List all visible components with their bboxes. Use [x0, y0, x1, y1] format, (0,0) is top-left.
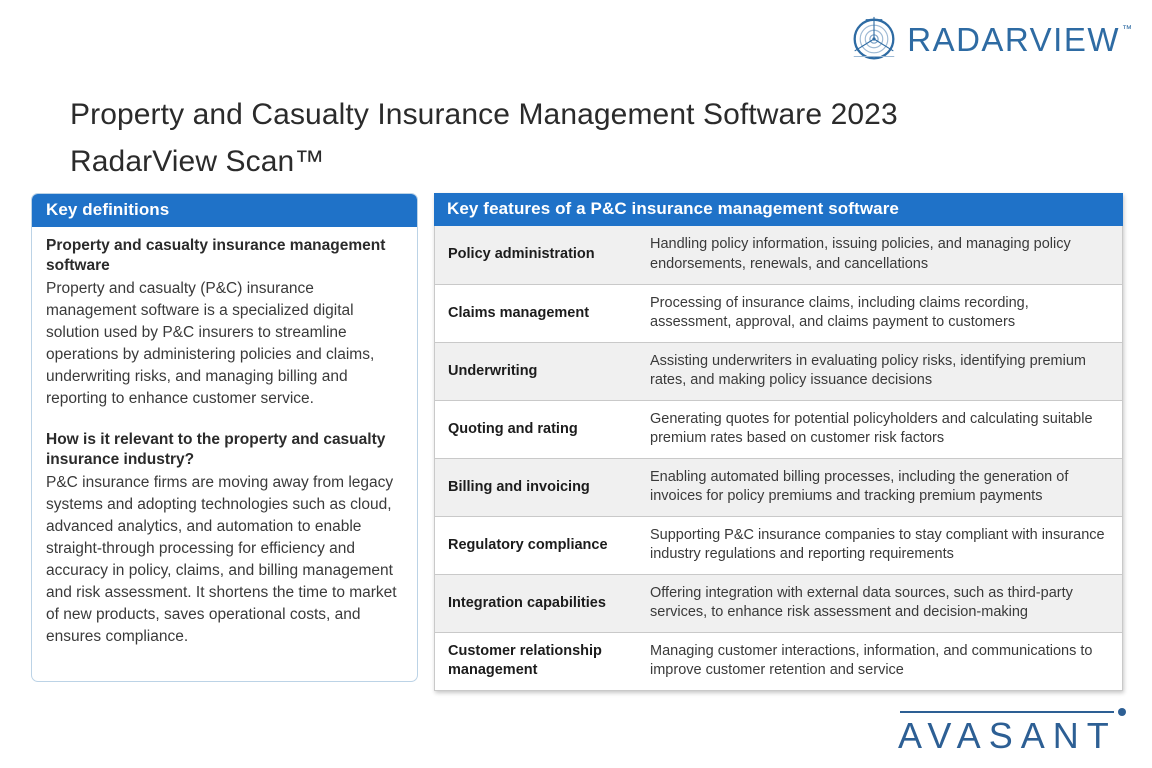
avasant-rule-dot — [1118, 708, 1126, 716]
radarview-wordmark: RADARVIEW ™ — [907, 23, 1132, 56]
feature-description: Handling policy information, issuing pol… — [650, 226, 1123, 284]
table-row: Underwriting Assisting underwriters in e… — [435, 342, 1123, 400]
key-features-header: Key features of a P&C insurance manageme… — [434, 193, 1123, 226]
feature-name: Underwriting — [435, 342, 651, 400]
table-row: Customer relationship management Managin… — [435, 632, 1123, 690]
table-row: Regulatory compliance Supporting P&C ins… — [435, 516, 1123, 574]
definition-term: How is it relevant to the property and c… — [46, 430, 403, 471]
feature-description: Supporting P&C insurance companies to st… — [650, 516, 1123, 574]
feature-name: Quoting and rating — [435, 400, 651, 458]
page-title-line2: RadarView Scan™ — [70, 139, 1030, 186]
table-row: Integration capabilities Offering integr… — [435, 574, 1123, 632]
radar-target-icon — [851, 16, 897, 62]
definition-term: Property and casualty insurance manageme… — [46, 236, 403, 277]
page-title: Property and Casualty Insurance Manageme… — [70, 92, 1030, 185]
table-row: Claims management Processing of insuranc… — [435, 284, 1123, 342]
table-row: Billing and invoicing Enabling automated… — [435, 458, 1123, 516]
avasant-wordmark: AVASANT — [896, 718, 1126, 754]
feature-name: Billing and invoicing — [435, 458, 651, 516]
feature-name: Policy administration — [435, 226, 651, 284]
feature-name: Regulatory compliance — [435, 516, 651, 574]
radarview-name: RADARVIEW — [907, 23, 1120, 56]
feature-description: Processing of insurance claims, includin… — [650, 284, 1123, 342]
key-definitions-body: Property and casualty insurance manageme… — [32, 227, 417, 658]
feature-description: Generating quotes for potential policyho… — [650, 400, 1123, 458]
definition-description: P&C insurance firms are moving away from… — [46, 472, 403, 648]
key-features-table: Policy administration Handling policy in… — [434, 226, 1123, 691]
definition-description: Property and casualty (P&C) insurance ma… — [46, 278, 403, 410]
feature-description: Assisting underwriters in evaluating pol… — [650, 342, 1123, 400]
radarview-logo: RADARVIEW ™ — [851, 16, 1132, 62]
key-definitions-panel: Key definitions Property and casualty in… — [31, 193, 418, 682]
table-row: Quoting and rating Generating quotes for… — [435, 400, 1123, 458]
feature-description: Managing customer interactions, informat… — [650, 632, 1123, 690]
definition-block: Property and casualty insurance manageme… — [46, 236, 403, 410]
key-features-panel: Key features of a P&C insurance manageme… — [434, 193, 1123, 691]
feature-description: Enabling automated billing processes, in… — [650, 458, 1123, 516]
definition-block: How is it relevant to the property and c… — [46, 430, 403, 648]
table-row: Policy administration Handling policy in… — [435, 226, 1123, 284]
radarview-trademark: ™ — [1122, 25, 1132, 35]
key-definitions-header: Key definitions — [32, 194, 417, 227]
page-title-line1: Property and Casualty Insurance Manageme… — [70, 98, 898, 131]
avasant-rule-line — [900, 711, 1114, 713]
feature-name: Integration capabilities — [435, 574, 651, 632]
avasant-line-dot-icon — [896, 708, 1126, 716]
feature-name: Customer relationship management — [435, 632, 651, 690]
avasant-logo: AVASANT — [896, 708, 1126, 754]
feature-name: Claims management — [435, 284, 651, 342]
feature-description: Offering integration with external data … — [650, 574, 1123, 632]
